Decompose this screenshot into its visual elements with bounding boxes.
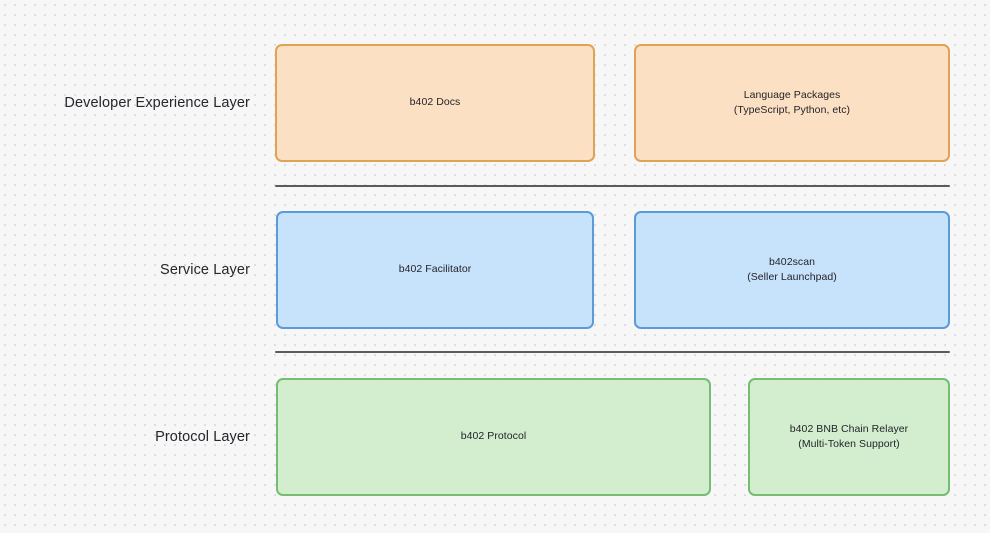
divider-dx-service — [275, 185, 950, 187]
node-b402-docs-label: b402 Docs — [402, 95, 469, 110]
diagram-canvas: Developer Experience Layer b402 Docs Lan… — [0, 0, 990, 533]
node-language-packages[interactable]: Language Packages (TypeScript, Python, e… — [634, 44, 950, 162]
layer-row-developer-experience: Developer Experience Layer b402 Docs Lan… — [0, 44, 990, 162]
layer-label-service: Service Layer — [0, 262, 250, 278]
node-b402scan[interactable]: b402scan (Seller Launchpad) — [634, 211, 950, 329]
layer-row-protocol: Protocol Layer b402 Protocol b402 BNB Ch… — [0, 378, 990, 496]
node-b402-protocol[interactable]: b402 Protocol — [276, 378, 711, 496]
node-b402-docs[interactable]: b402 Docs — [275, 44, 595, 162]
divider-service-protocol — [275, 351, 950, 353]
node-b402-protocol-label: b402 Protocol — [453, 429, 534, 444]
node-b402-bnb-chain-relayer-label: b402 BNB Chain Relayer (Multi-Token Supp… — [782, 422, 916, 452]
node-b402-bnb-chain-relayer[interactable]: b402 BNB Chain Relayer (Multi-Token Supp… — [748, 378, 950, 496]
node-b402-facilitator-label: b402 Facilitator — [391, 262, 480, 277]
node-b402scan-label: b402scan (Seller Launchpad) — [739, 255, 845, 285]
layer-row-service: Service Layer b402 Facilitator b402scan … — [0, 211, 990, 329]
node-b402-facilitator[interactable]: b402 Facilitator — [276, 211, 594, 329]
node-language-packages-label: Language Packages (TypeScript, Python, e… — [726, 88, 858, 118]
layer-label-developer-experience: Developer Experience Layer — [0, 95, 250, 111]
layer-label-protocol: Protocol Layer — [0, 429, 250, 445]
